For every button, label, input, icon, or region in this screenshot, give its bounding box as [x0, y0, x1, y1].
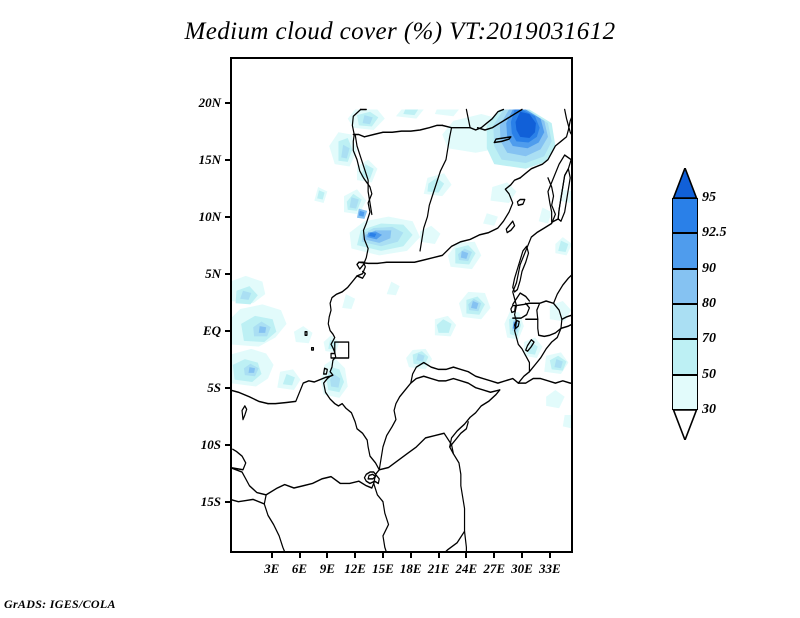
lat-tick [225, 387, 230, 389]
colorbar-band-5 [672, 375, 698, 410]
lat-tick [225, 501, 230, 503]
colorbar-label-50: 50 [702, 367, 716, 383]
lon-label-21e: 21E [428, 561, 450, 577]
lat-tick [225, 102, 230, 104]
lon-label-27e: 27E [483, 561, 505, 577]
colorbar-arrow-top [672, 168, 698, 198]
lon-tick [438, 553, 440, 558]
lon-label-12e: 12E [344, 561, 366, 577]
page-title: Medium cloud cover (%) VT:2019031612 [0, 18, 800, 46]
colorbar[interactable]: 9592.59080705030 [672, 168, 698, 440]
lon-label-3e: 3E [264, 561, 279, 577]
colorbar-arrow-bottom [672, 410, 698, 440]
map-panel [230, 57, 573, 553]
lon-tick [521, 553, 523, 558]
lon-label-24e: 24E [456, 561, 478, 577]
colorbar-label-95: 95 [702, 190, 716, 206]
colorbar-band-1 [672, 233, 698, 268]
colorbar-band-4 [672, 339, 698, 374]
lat-label-20n: 20N [199, 95, 221, 111]
colorbar-label-90: 90 [702, 261, 716, 277]
lon-label-30e: 30E [511, 561, 533, 577]
lon-tick [465, 553, 467, 558]
lat-label-10n: 10N [199, 209, 221, 225]
colorbar-label-80: 80 [702, 296, 716, 312]
colorbar-label-92-5: 92.5 [702, 225, 727, 241]
lon-label-6e: 6E [292, 561, 307, 577]
lat-tick [225, 330, 230, 332]
lon-tick [299, 553, 301, 558]
lat-tick [225, 159, 230, 161]
lat-label-10s: 10S [201, 437, 221, 453]
colorbar-label-30: 30 [702, 402, 716, 418]
colorbar-label-70: 70 [702, 331, 716, 347]
colorbar-band-0 [672, 198, 698, 233]
map-frame [230, 57, 573, 553]
lon-tick [410, 553, 412, 558]
lon-tick [326, 553, 328, 558]
lat-label-15n: 15N [199, 152, 221, 168]
lat-label-15s: 15S [201, 494, 221, 510]
lat-label-5n: 5N [205, 266, 221, 282]
lon-tick [354, 553, 356, 558]
lon-tick [382, 553, 384, 558]
lon-label-33e: 33E [539, 561, 561, 577]
lon-tick [549, 553, 551, 558]
lat-label-5s: 5S [207, 380, 221, 396]
lat-label-eq: EQ [203, 323, 221, 339]
colorbar-band-3 [672, 304, 698, 339]
lon-tick [493, 553, 495, 558]
lon-tick [271, 553, 273, 558]
lon-label-15e: 15E [372, 561, 394, 577]
lon-label-9e: 9E [320, 561, 335, 577]
colorbar-band-2 [672, 269, 698, 304]
lon-label-18e: 18E [400, 561, 422, 577]
lat-tick [225, 216, 230, 218]
lat-tick [225, 273, 230, 275]
credit-text: GrADS: IGES/COLA [4, 597, 116, 612]
lat-tick [225, 444, 230, 446]
